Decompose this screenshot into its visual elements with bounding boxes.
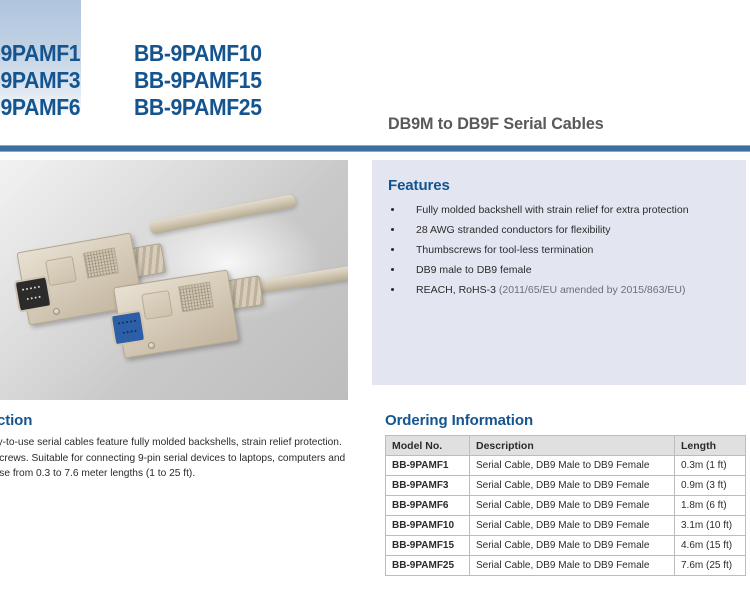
cell-model: BB-9PAMF25 — [386, 556, 470, 576]
header-model-number-columns: BB-9PAMF1 BB-9PAMF3 BB-9PAMF6 BB-9PAMF10… — [0, 40, 334, 121]
table-row: BB-9PAMF1 Serial Cable, DB9 Male to DB9 … — [386, 456, 746, 476]
column-header-description: Description — [470, 436, 675, 456]
feature-item: Fully molded backshell with strain relie… — [388, 200, 736, 220]
cell-length: 7.6m (25 ft) — [675, 556, 746, 576]
table-row: BB-9PAMF15 Serial Cable, DB9 Male to DB9… — [386, 536, 746, 556]
db9-male-pin-row — [27, 296, 41, 300]
bullet-icon — [391, 268, 394, 271]
introduction-title: Introduction — [0, 412, 350, 429]
feature-note: (2011/65/EU amended by 2015/863/EU) — [499, 284, 686, 296]
product-photo — [0, 160, 348, 400]
feature-text: REACH, RoHS-3 — [416, 284, 499, 296]
model-code: BB-9PAMF6 — [0, 94, 120, 121]
cell-description: Serial Cable, DB9 Male to DB9 Female — [470, 476, 675, 496]
db9-male-pin-row — [22, 286, 40, 291]
feature-text: 28 AWG stranded conductors for flexibili… — [416, 224, 611, 236]
cell-model: BB-9PAMF1 — [386, 456, 470, 476]
bullet-icon — [391, 288, 394, 291]
model-column-1: BB-9PAMF1 BB-9PAMF3 BB-9PAMF6 — [0, 40, 134, 121]
ordering-information-block: Ordering Information Model No. Descripti… — [385, 412, 745, 576]
bullet-icon — [391, 208, 394, 211]
cell-length: 0.3m (1 ft) — [675, 456, 746, 476]
db9-male-connector — [13, 275, 52, 312]
introduction-block: Introduction These ready-to-use serial c… — [0, 412, 350, 482]
model-column-2: BB-9PAMF10 BB-9PAMF15 BB-9PAMF25 — [134, 40, 334, 121]
feature-item: REACH, RoHS-3 (2011/65/EU amended by 201… — [388, 280, 736, 300]
bullet-icon — [391, 248, 394, 251]
feature-item: DB9 male to DB9 female — [388, 260, 736, 280]
model-code: BB-9PAMF3 — [0, 67, 120, 94]
table-row: BB-9PAMF10 Serial Cable, DB9 Male to DB9… — [386, 516, 746, 536]
feature-text: Fully molded backshell with strain relie… — [416, 204, 689, 216]
db9-female-connector — [110, 310, 147, 347]
cell-description: Serial Cable, DB9 Male to DB9 Female — [470, 456, 675, 476]
bullet-icon — [391, 228, 394, 231]
header-divider — [0, 145, 750, 152]
backshell-male-plate — [45, 256, 77, 286]
features-list: Fully molded backshell with strain relie… — [388, 200, 736, 300]
page-title: DB9M to DB9F Serial Cables — [388, 114, 604, 134]
db9-female-socket-row — [118, 320, 136, 325]
model-code: BB-9PAMF10 — [134, 40, 318, 67]
backshell-female-plate — [141, 290, 173, 320]
column-header-length: Length — [675, 436, 746, 456]
ordering-information-title: Ordering Information — [385, 412, 745, 429]
column-header-model: Model No. — [386, 436, 470, 456]
cell-model: BB-9PAMF3 — [386, 476, 470, 496]
model-code: BB-9PAMF15 — [134, 67, 318, 94]
cell-length: 0.9m (3 ft) — [675, 476, 746, 496]
datasheet-page: BB-9PAMF1 BB-9PAMF3 BB-9PAMF6 BB-9PAMF10… — [0, 0, 750, 591]
model-code: BB-9PAMF25 — [134, 94, 318, 121]
feature-text: DB9 male to DB9 female — [416, 264, 532, 276]
cell-description: Serial Cable, DB9 Male to DB9 Female — [470, 556, 675, 576]
cell-description: Serial Cable, DB9 Male to DB9 Female — [470, 496, 675, 516]
table-header-row: Model No. Description Length — [386, 436, 746, 456]
feature-item: 28 AWG stranded conductors for flexibili… — [388, 220, 736, 240]
backshell-female-grip — [178, 282, 214, 313]
ordering-table: Model No. Description Length BB-9PAMF1 S… — [385, 435, 746, 576]
features-panel: Features Fully molded backshell with str… — [372, 160, 746, 385]
feature-text: Thumbscrews for tool-less termination — [416, 244, 593, 256]
model-code: BB-9PAMF1 — [0, 40, 120, 67]
table-row: BB-9PAMF6 Serial Cable, DB9 Male to DB9 … — [386, 496, 746, 516]
table-row: BB-9PAMF25 Serial Cable, DB9 Male to DB9… — [386, 556, 746, 576]
thumbscrew — [53, 308, 60, 315]
cell-model: BB-9PAMF10 — [386, 516, 470, 536]
cell-length: 3.1m (10 ft) — [675, 516, 746, 536]
cell-description: Serial Cable, DB9 Male to DB9 Female — [470, 536, 675, 556]
thumbscrew — [148, 342, 155, 349]
features-title: Features — [388, 177, 450, 194]
table-row: BB-9PAMF3 Serial Cable, DB9 Male to DB9 … — [386, 476, 746, 496]
backshell-male-grip — [83, 247, 119, 278]
cell-model: BB-9PAMF6 — [386, 496, 470, 516]
cell-model: BB-9PAMF15 — [386, 536, 470, 556]
introduction-body: These ready-to-use serial cables feature… — [0, 435, 350, 482]
feature-item: Thumbscrews for tool-less termination — [388, 240, 736, 260]
db9-female-socket-row — [123, 330, 137, 334]
cell-description: Serial Cable, DB9 Male to DB9 Female — [470, 516, 675, 536]
cell-length: 1.8m (6 ft) — [675, 496, 746, 516]
cell-length: 4.6m (15 ft) — [675, 536, 746, 556]
